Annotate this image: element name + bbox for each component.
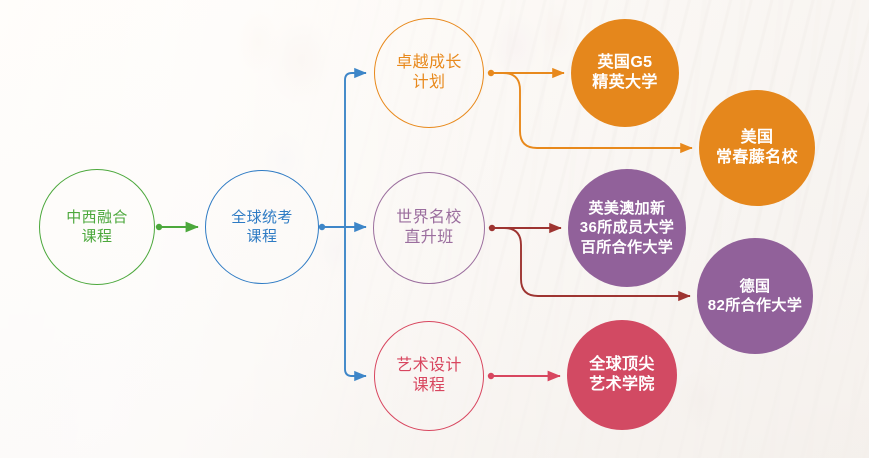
node-line: 英美澳加新 xyxy=(588,199,665,218)
node-line: 卓越成长 xyxy=(396,53,462,73)
node-line: 直升班 xyxy=(404,228,453,248)
node-line: 中西融合 xyxy=(66,208,128,227)
connector-start-to-exam xyxy=(156,224,198,230)
node-line: 全球统考 xyxy=(231,208,293,227)
node-track-art-design[interactable]: 艺术设计 课程 xyxy=(374,321,484,431)
node-track-excellence-plan[interactable]: 卓越成长 计划 xyxy=(374,18,484,128)
node-global-exam-course[interactable]: 全球统考 课程 xyxy=(205,170,319,284)
node-line: 艺术设计 xyxy=(396,356,462,376)
node-line: 课程 xyxy=(82,227,113,246)
node-destination-us-ivy[interactable]: 美国 常春藤名校 xyxy=(699,90,815,206)
connector-exam-branches xyxy=(319,73,366,376)
node-track-direct-admission[interactable]: 世界名校 直升班 xyxy=(373,172,485,284)
node-destination-art-academy[interactable]: 全球顶尖 艺术学院 xyxy=(567,320,677,430)
node-line: 计划 xyxy=(413,73,446,93)
node-line: 艺术学院 xyxy=(589,375,655,395)
diagram-canvas: 中西融合 课程 全球统考 课程 卓越成长 计划 世界名校 直升班 艺术设计 课程… xyxy=(0,0,869,458)
node-line: 课程 xyxy=(413,376,446,396)
node-destination-university-alliance[interactable]: 英美澳加新 36所成员大学 百所合作大学 xyxy=(568,169,686,287)
node-line: 课程 xyxy=(247,227,278,246)
connector-art-to-academy xyxy=(488,373,560,379)
node-line: 全球顶尖 xyxy=(589,355,655,375)
node-line: 英国G5 xyxy=(598,53,653,73)
node-line: 百所合作大学 xyxy=(581,238,673,257)
node-line: 美国 xyxy=(741,128,774,148)
node-line: 德国 xyxy=(740,277,771,296)
node-line: 82所合作大学 xyxy=(708,296,803,315)
node-line: 常春藤名校 xyxy=(716,148,798,168)
node-line: 36所成员大学 xyxy=(580,218,675,237)
node-destination-germany[interactable]: 德国 82所合作大学 xyxy=(697,238,813,354)
node-destination-uk-g5[interactable]: 英国G5 精英大学 xyxy=(571,19,679,127)
node-line: 世界名校 xyxy=(396,208,462,228)
node-line: 精英大学 xyxy=(592,73,658,93)
node-start-course[interactable]: 中西融合 课程 xyxy=(39,169,155,285)
